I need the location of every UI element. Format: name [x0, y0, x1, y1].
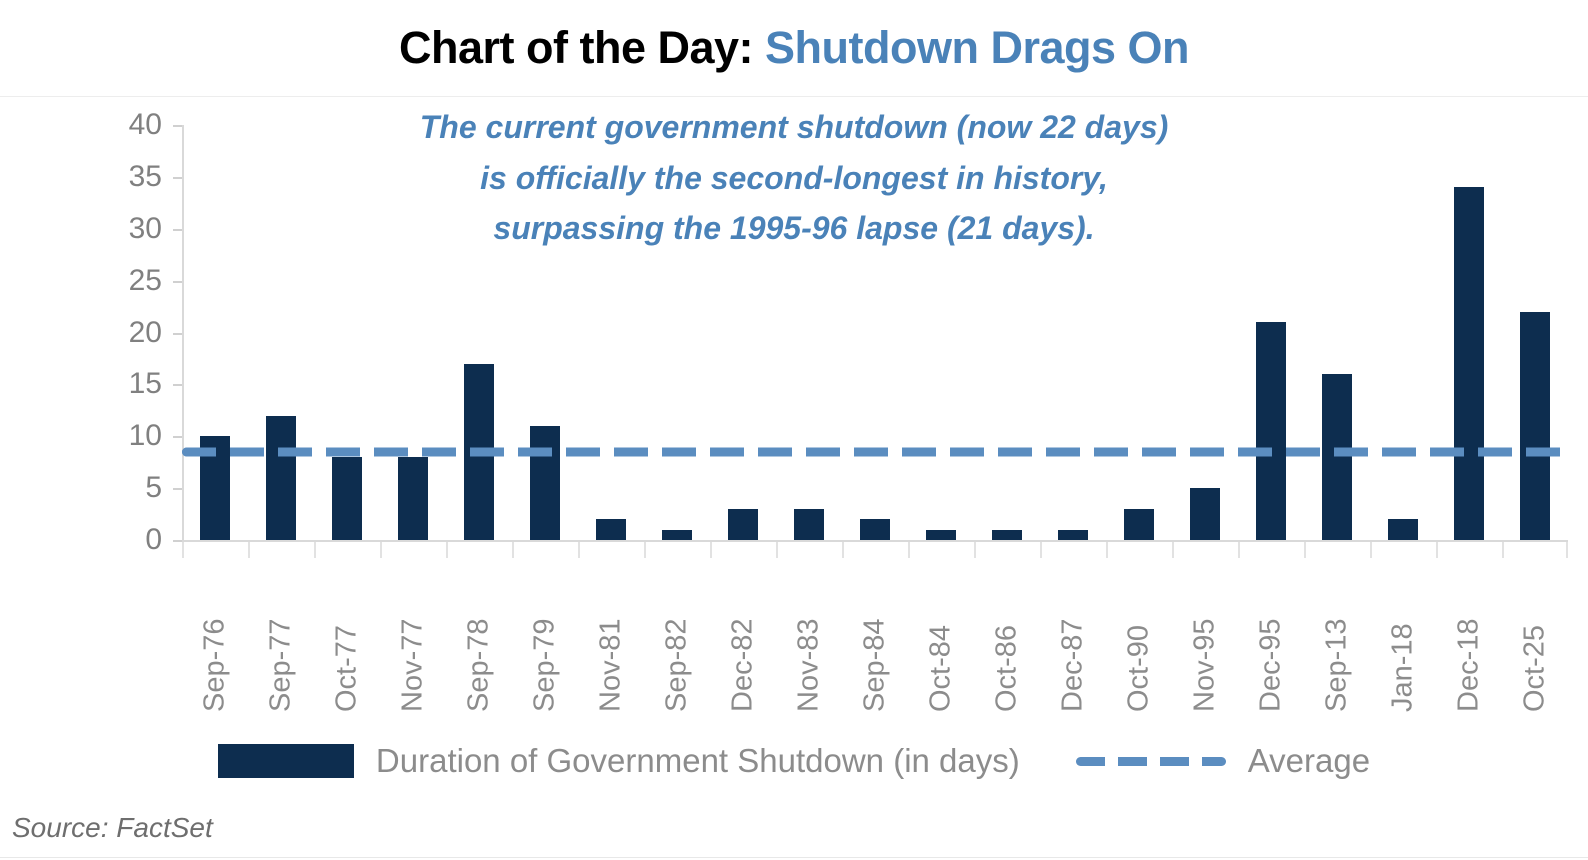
x-axis-labels: Sep-76Sep-77Oct-77Nov-77Sep-78Sep-79Nov-…: [182, 562, 1568, 712]
bar[interactable]: [860, 519, 890, 540]
x-axis-label-slot: Oct-84: [908, 562, 974, 712]
bar-slot: [446, 125, 512, 540]
bar-slot: [1304, 125, 1370, 540]
x-axis-tick-label: Oct-77: [333, 562, 362, 712]
bar[interactable]: [398, 457, 428, 540]
x-axis-tick-mark: [380, 542, 446, 558]
y-axis-tick-label: 15: [92, 369, 162, 399]
x-axis-tick-label: Sep-13: [1323, 562, 1352, 712]
y-axis-tick-label: 0: [92, 525, 162, 555]
bar[interactable]: [1124, 509, 1154, 540]
y-axis-tick-label: 40: [92, 110, 162, 140]
bar[interactable]: [530, 426, 560, 540]
x-axis-label-slot: Oct-90: [1106, 562, 1172, 712]
x-axis-label-slot: Sep-13: [1304, 562, 1370, 712]
bar[interactable]: [992, 530, 1022, 540]
bar-slot: [974, 125, 1040, 540]
x-axis-tick-mark: [1502, 542, 1568, 558]
x-axis-label-slot: Sep-79: [512, 562, 578, 712]
bar-slot: [1238, 125, 1304, 540]
bar[interactable]: [1388, 519, 1418, 540]
x-axis-tick-label: Oct-86: [993, 562, 1022, 712]
bar-slot: [578, 125, 644, 540]
bar[interactable]: [596, 519, 626, 540]
bar[interactable]: [926, 530, 956, 540]
x-axis-label-slot: Oct-77: [314, 562, 380, 712]
bar-slot: [1172, 125, 1238, 540]
x-axis-tick-label: Jan-18: [1389, 562, 1418, 712]
x-axis-tick-mark: [842, 542, 908, 558]
y-axis-tick-label: 5: [92, 473, 162, 503]
x-axis-tick-label: Dec-82: [729, 562, 758, 712]
chart-legend: Duration of Government Shutdown (in days…: [0, 742, 1588, 780]
x-axis-tick-mark: [644, 542, 710, 558]
average-line: [182, 447, 1568, 456]
bar-slot: [1040, 125, 1106, 540]
x-axis-tick-mark: [1436, 542, 1502, 558]
legend-average-label: Average: [1248, 742, 1370, 780]
bar-slot: [1370, 125, 1436, 540]
x-axis-tick-mark: [1304, 542, 1370, 558]
x-axis-tick-label: Nov-81: [597, 562, 626, 712]
x-axis-label-slot: Sep-77: [248, 562, 314, 712]
chart-page: Chart of the Day: Shutdown Drags On The …: [0, 0, 1588, 860]
bar-slot: [1502, 125, 1568, 540]
header-divider: [0, 96, 1588, 97]
legend-dashed-line-icon: [1076, 757, 1226, 766]
title-main-text: Chart of the Day:: [399, 22, 765, 73]
x-axis-tick-mark: [446, 542, 512, 558]
y-axis-tick-label: 30: [92, 214, 162, 244]
x-axis-tick-label: Sep-79: [531, 562, 560, 712]
y-axis-tick-label: 35: [92, 162, 162, 192]
bar-slot: [1106, 125, 1172, 540]
x-axis-tick-mark: [776, 542, 842, 558]
x-axis-tick-label: Oct-90: [1125, 562, 1154, 712]
y-axis-tick-mark: [173, 125, 182, 127]
x-axis-label-slot: Dec-87: [1040, 562, 1106, 712]
bar-slot: [776, 125, 842, 540]
x-axis-label-slot: Oct-25: [1502, 562, 1568, 712]
y-axis-tick-label: 20: [92, 318, 162, 348]
y-axis-tick-label: 10: [92, 421, 162, 451]
x-axis-tick-label: Sep-82: [663, 562, 692, 712]
title-accent-text: Shutdown Drags On: [765, 22, 1189, 73]
x-axis-tick-label: Nov-83: [795, 562, 824, 712]
bar-slot: [182, 125, 248, 540]
x-axis-tick-mark: [1106, 542, 1172, 558]
x-axis-tick-mark: [182, 542, 248, 558]
bar[interactable]: [266, 416, 296, 541]
x-axis-tick-label: Sep-84: [861, 562, 890, 712]
bar-slot: [380, 125, 446, 540]
y-axis-tick-mark: [173, 436, 182, 438]
bar-slot: [512, 125, 578, 540]
x-axis-label-slot: Sep-76: [182, 562, 248, 712]
source-note: Source: FactSet: [12, 812, 213, 844]
x-axis-tick-label: Dec-87: [1059, 562, 1088, 712]
bar[interactable]: [1058, 530, 1088, 540]
bar-slot: [314, 125, 380, 540]
x-axis-tick-label: Nov-77: [399, 562, 428, 712]
bar-slot: [908, 125, 974, 540]
x-axis-tick-label: Sep-77: [267, 562, 296, 712]
x-axis-label-slot: Dec-95: [1238, 562, 1304, 712]
y-axis-tick-mark: [173, 384, 182, 386]
bar[interactable]: [1322, 374, 1352, 540]
x-axis-label-slot: Oct-86: [974, 562, 1040, 712]
bar-slot: [710, 125, 776, 540]
bar[interactable]: [1256, 322, 1286, 540]
x-axis-tick-label: Dec-18: [1455, 562, 1484, 712]
legend-item-average: Average: [1076, 742, 1370, 780]
x-axis-ticks: [182, 542, 1568, 558]
x-axis-tick-mark: [314, 542, 380, 558]
x-axis-tick-label: Sep-78: [465, 562, 494, 712]
x-axis-label-slot: Sep-82: [644, 562, 710, 712]
x-axis-tick-label: Oct-84: [927, 562, 956, 712]
legend-bar-swatch-icon: [218, 744, 354, 778]
bar[interactable]: [794, 509, 824, 540]
x-axis-tick-label: Nov-95: [1191, 562, 1220, 712]
legend-bar-label: Duration of Government Shutdown (in days…: [376, 742, 1020, 780]
x-axis-tick-mark: [1172, 542, 1238, 558]
y-axis-tick-mark: [173, 229, 182, 231]
x-axis-tick-label: Oct-25: [1521, 562, 1550, 712]
x-axis-tick-mark: [578, 542, 644, 558]
x-axis-label-slot: Sep-78: [446, 562, 512, 712]
x-axis-label-slot: Jan-18: [1370, 562, 1436, 712]
bar-slot: [644, 125, 710, 540]
x-axis-tick-mark: [1238, 542, 1304, 558]
x-axis-label-slot: Nov-83: [776, 562, 842, 712]
footer-divider: [0, 857, 1588, 858]
bar[interactable]: [662, 530, 692, 540]
y-axis-tick-mark: [173, 333, 182, 335]
plot-area: 0510152025303540: [182, 125, 1568, 540]
x-axis-tick-mark: [1040, 542, 1106, 558]
x-axis-tick-mark: [248, 542, 314, 558]
x-axis-label-slot: Dec-18: [1436, 562, 1502, 712]
bar-slot: [1436, 125, 1502, 540]
x-axis-tick-mark: [710, 542, 776, 558]
x-axis-tick-label: Sep-76: [201, 562, 230, 712]
x-axis-label-slot: Sep-84: [842, 562, 908, 712]
bar[interactable]: [1520, 312, 1550, 540]
x-axis-tick-mark: [512, 542, 578, 558]
y-axis-tick-mark: [173, 281, 182, 283]
y-axis-tick-mark: [173, 177, 182, 179]
page-title: Chart of the Day: Shutdown Drags On: [0, 22, 1588, 74]
bar[interactable]: [1190, 488, 1220, 540]
x-axis-label-slot: Nov-95: [1172, 562, 1238, 712]
x-axis-label-slot: Nov-77: [380, 562, 446, 712]
y-axis-tick-mark: [173, 488, 182, 490]
y-axis-tick-mark: [173, 540, 182, 542]
bar[interactable]: [1454, 187, 1484, 540]
bar[interactable]: [332, 457, 362, 540]
bar-slot: [842, 125, 908, 540]
x-axis-label-slot: Nov-81: [578, 562, 644, 712]
x-axis-tick-mark: [908, 542, 974, 558]
x-axis-tick-label: Dec-95: [1257, 562, 1286, 712]
x-axis-tick-mark: [974, 542, 1040, 558]
legend-item-bar: Duration of Government Shutdown (in days…: [218, 742, 1020, 780]
x-axis-tick-mark: [1370, 542, 1436, 558]
bar[interactable]: [728, 509, 758, 540]
bar-series: [182, 125, 1568, 540]
y-axis-tick-label: 25: [92, 266, 162, 296]
x-axis-label-slot: Dec-82: [710, 562, 776, 712]
bar-slot: [248, 125, 314, 540]
